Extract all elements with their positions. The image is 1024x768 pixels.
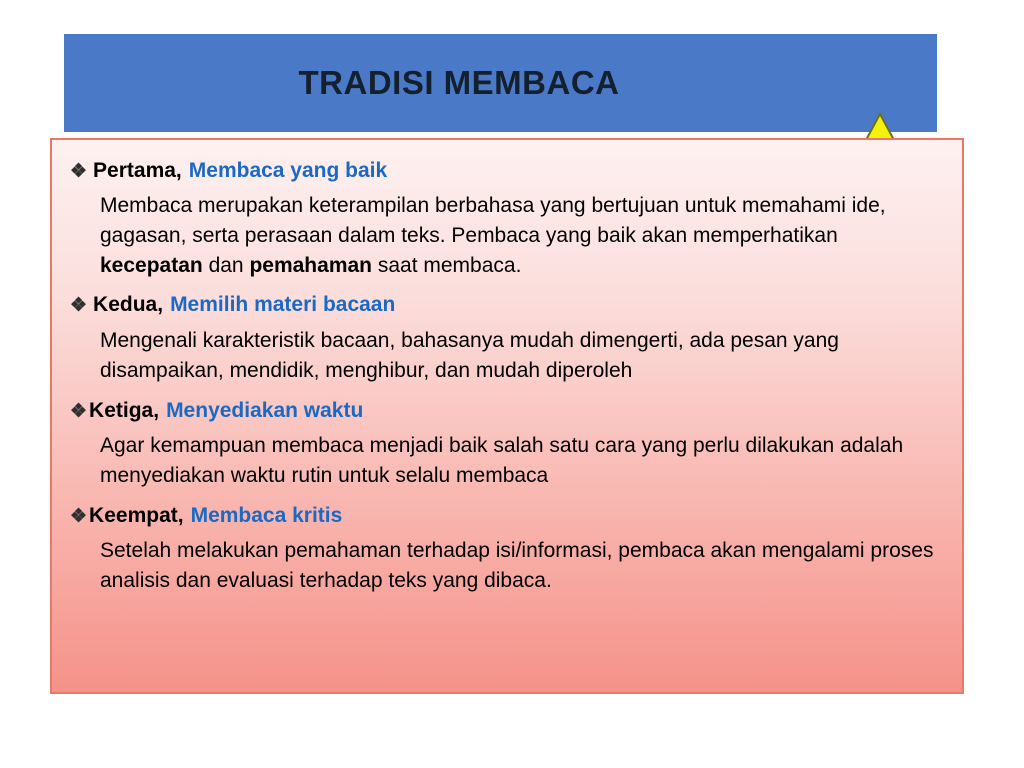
list-item-body: Setelah melakukan pemahaman terhadap isi… bbox=[100, 536, 938, 596]
list-item-lead: Kedua, bbox=[93, 292, 163, 318]
list-item-body: Agar kemampuan membaca menjadi baik sala… bbox=[100, 431, 938, 491]
diamond-bullet-icon: ❖ bbox=[70, 160, 87, 184]
body-text-segment: dan bbox=[203, 254, 250, 277]
body-text-segment: saat membaca. bbox=[372, 254, 521, 277]
list-item-heading: ❖ Ketiga, Menyediakan waktu bbox=[70, 398, 938, 424]
diamond-bullet-icon: ❖ bbox=[70, 505, 87, 529]
list-item-heading: ❖ Keempat, Membaca kritis bbox=[70, 503, 938, 529]
list-item-body: Membaca merupakan keterampilan berbahasa… bbox=[100, 191, 938, 281]
body-text-segment: Membaca merupakan keterampilan berbahasa… bbox=[100, 194, 886, 247]
slide-title-bar: TRADISI MEMBACA bbox=[64, 34, 937, 132]
list-item-lead: Keempat, bbox=[89, 503, 184, 529]
body-text-bold-pemahaman: pemahaman bbox=[249, 254, 372, 277]
list-item-lead: Ketiga, bbox=[89, 398, 159, 424]
slide-canvas: TRADISI MEMBACA ❖ Pertama, Membaca yang … bbox=[0, 0, 1024, 768]
body-text-bold-kecepatan: kecepatan bbox=[100, 254, 203, 277]
list-item-accent: Membaca kritis bbox=[191, 503, 343, 529]
list-item-accent: Membaca yang baik bbox=[189, 158, 387, 184]
list-item-lead: Pertama, bbox=[93, 158, 182, 184]
page-title: TRADISI MEMBACA bbox=[64, 34, 854, 132]
diamond-bullet-icon: ❖ bbox=[70, 400, 87, 424]
list-item-accent: Menyediakan waktu bbox=[166, 398, 363, 424]
list-item-heading: ❖ Kedua, Memilih materi bacaan bbox=[70, 292, 938, 318]
list-item-body: Mengenali karakteristik bacaan, bahasany… bbox=[100, 326, 938, 386]
content-panel: ❖ Pertama, Membaca yang baik Membaca mer… bbox=[50, 138, 964, 694]
list-item-accent: Memilih materi bacaan bbox=[170, 292, 395, 318]
diamond-bullet-icon: ❖ bbox=[70, 294, 87, 318]
list-item-heading: ❖ Pertama, Membaca yang baik bbox=[70, 158, 938, 184]
